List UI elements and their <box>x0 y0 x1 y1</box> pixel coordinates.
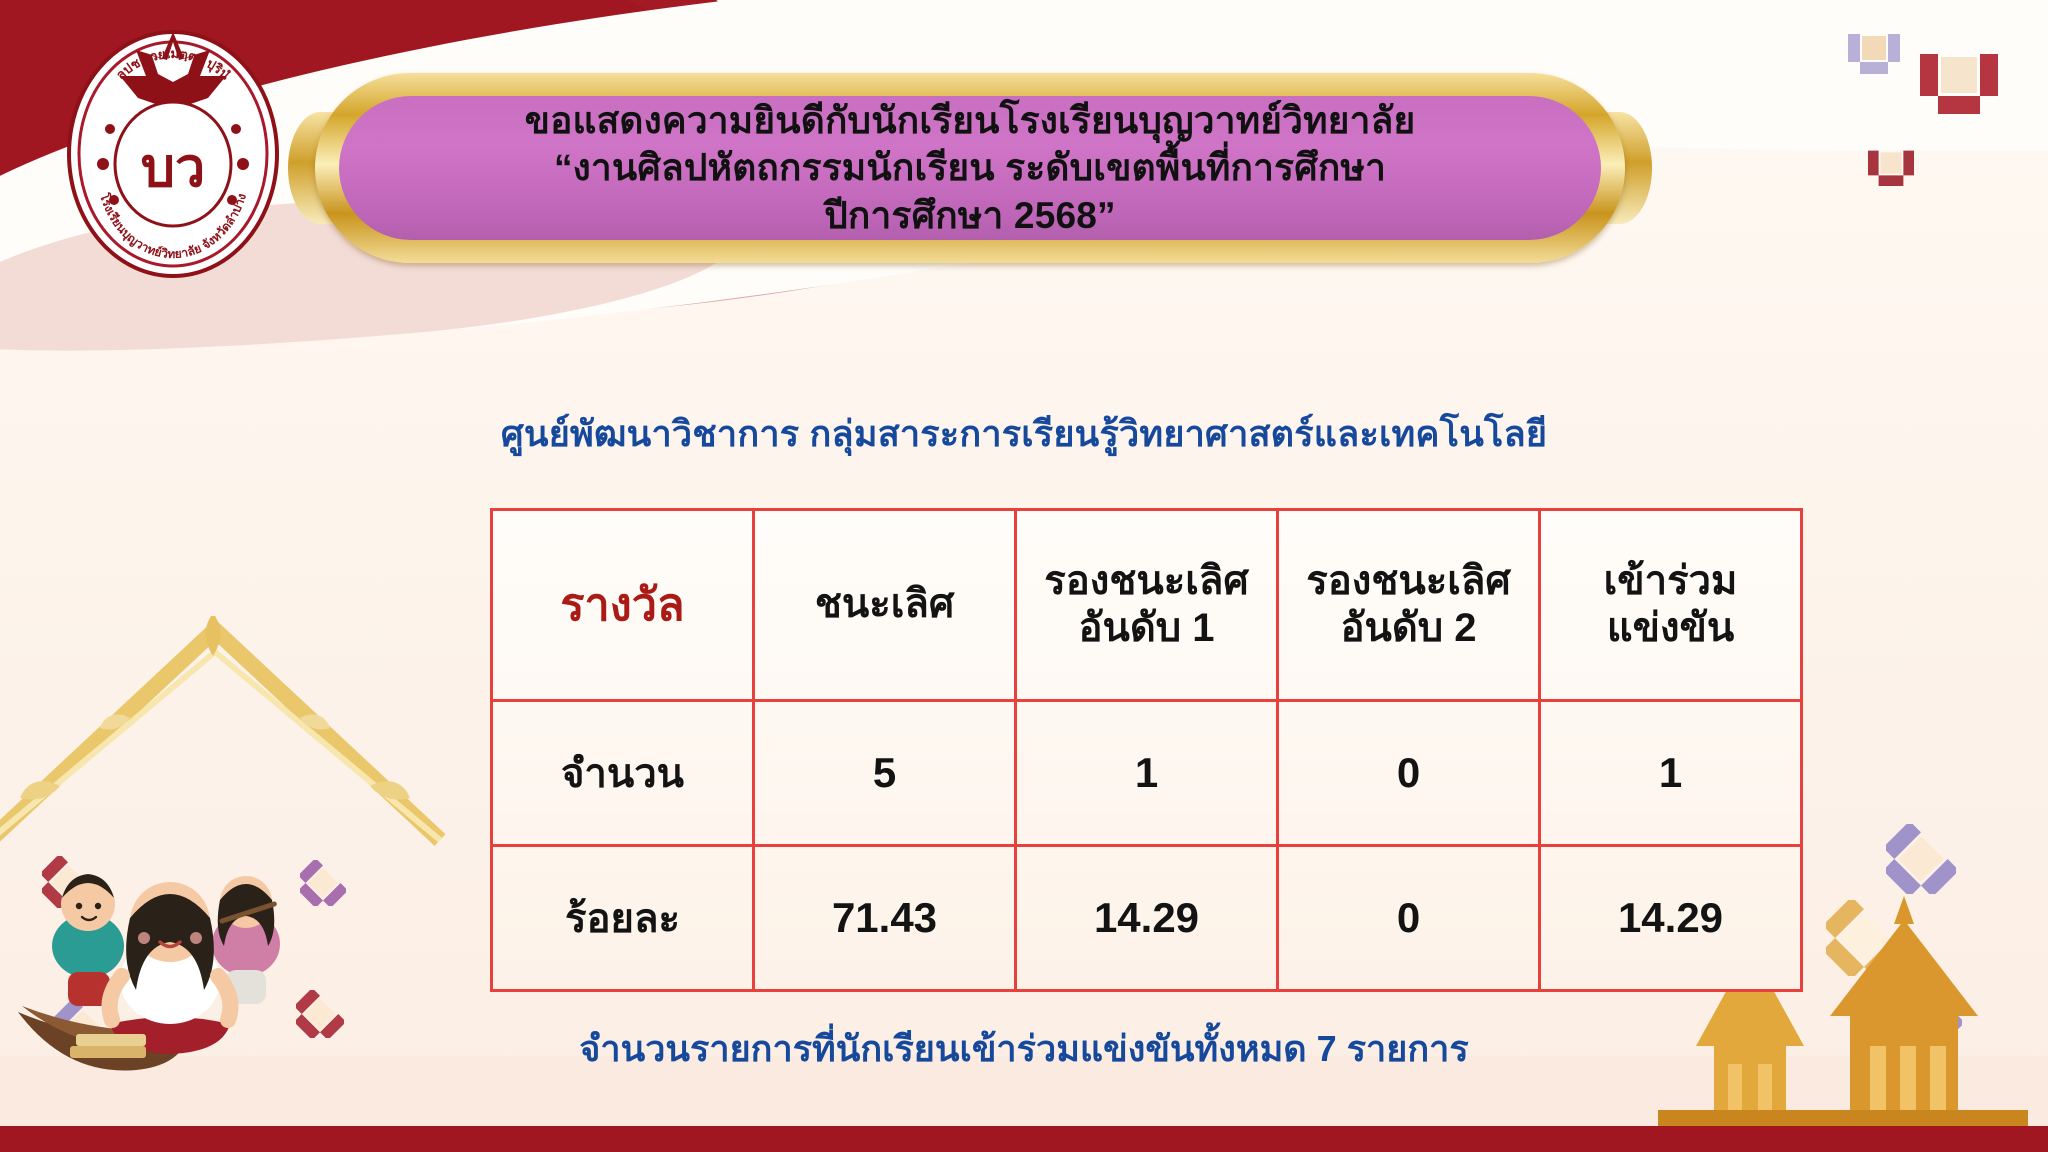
thai-pattern-square-top-right-a <box>1848 22 1900 74</box>
cell-percent-first-place: 71.43 <box>754 846 1016 991</box>
table-header-row: รางวัล ชนะเลิศ รองชนะเลิศ อันดับ 1 รองชน… <box>492 510 1802 701</box>
title-plaque: ขอแสดงความยินดีกับนักเรียนโรงเรียนบุญวาท… <box>315 73 1625 263</box>
poster-title-line-1: ขอแสดงความยินดีกับนักเรียนโรงเรียนบุญวาท… <box>525 97 1416 144</box>
table-header-award: รางวัล <box>492 510 754 701</box>
poster-title-line-2: “งานศิลปหัตถกรรมนักเรียน ระดับเขตพื้นที่… <box>554 144 1386 191</box>
cell-count-participation: 1 <box>1540 701 1802 846</box>
awards-table: รางวัล ชนะเลิศ รองชนะเลิศ อันดับ 1 รองชน… <box>490 508 1803 992</box>
cell-count-runner-up-1: 1 <box>1016 701 1278 846</box>
plaque-purple-panel: ขอแสดงความยินดีกับนักเรียนโรงเรียนบุญวาท… <box>339 96 1601 240</box>
cell-percent-runner-up-1: 14.29 <box>1016 846 1278 991</box>
table-row: ร้อยละ 71.43 14.29 0 14.29 <box>492 846 1802 991</box>
cell-count-runner-up-2: 0 <box>1278 701 1540 846</box>
school-emblem-logo: บว ลปชา วยเมตฺตา ปุรินํ โรงเรียนบุญวาทย์… <box>58 14 288 284</box>
awards-table-head: รางวัล ชนะเลิศ รองชนะเลิศ อันดับ 1 รองชน… <box>492 510 1802 701</box>
cell-count-first-place: 5 <box>754 701 1016 846</box>
row-label-percent: ร้อยละ <box>492 846 754 991</box>
subject-group-subtitle: ศูนย์พัฒนาวิชาการ กลุ่มสาระการเรียนรู้วิ… <box>0 405 2048 462</box>
awards-table-body: จำนวน 5 1 0 1 ร้อยละ 71.43 14.29 0 14.29 <box>492 701 1802 991</box>
table-header-runner-up-1-line2: อันดับ 1 <box>1021 605 1272 652</box>
table-header-runner-up-2-line2: อันดับ 2 <box>1283 605 1534 652</box>
poster-canvas: บว ลปชา วยเมตฺตา ปุรินํ โรงเรียนบุญวาทย์… <box>0 0 2048 1152</box>
table-header-runner-up-1: รองชนะเลิศ อันดับ 1 <box>1016 510 1278 701</box>
background-red-strip-bottom <box>0 1126 2048 1152</box>
awards-table-container: รางวัล ชนะเลิศ รองชนะเลิศ อันดับ 1 รองชน… <box>490 508 1800 992</box>
thai-pattern-square-top-right-c <box>1868 140 1914 186</box>
thai-pattern-square-top-right-b <box>1920 36 1998 114</box>
table-header-runner-up-2: รองชนะเลิศ อันดับ 2 <box>1278 510 1540 701</box>
row-label-count: จำนวน <box>492 701 754 846</box>
table-header-runner-up-2-line1: รองชนะเลิศ <box>1283 558 1534 605</box>
cell-percent-participation: 14.29 <box>1540 846 1802 991</box>
table-row: จำนวน 5 1 0 1 <box>492 701 1802 846</box>
total-competitions-note: จำนวนรายการที่นักเรียนเข้าร่วมแข่งขันทั้… <box>0 1020 2048 1077</box>
table-header-participation: เข้าร่วม แข่งขัน <box>1540 510 1802 701</box>
table-header-participation-line1: เข้าร่วม <box>1545 558 1796 605</box>
poster-title-line-3: ปีการศึกษา 2568” <box>824 192 1115 239</box>
table-header-first-place: ชนะเลิศ <box>754 510 1016 701</box>
emblem-monogram: บว <box>141 138 206 198</box>
thai-pattern-diamond-right-a <box>1886 824 1956 894</box>
table-header-runner-up-1-line1: รองชนะเลิศ <box>1021 558 1272 605</box>
table-header-participation-line2: แข่งขัน <box>1545 605 1796 652</box>
cell-percent-runner-up-2: 0 <box>1278 846 1540 991</box>
